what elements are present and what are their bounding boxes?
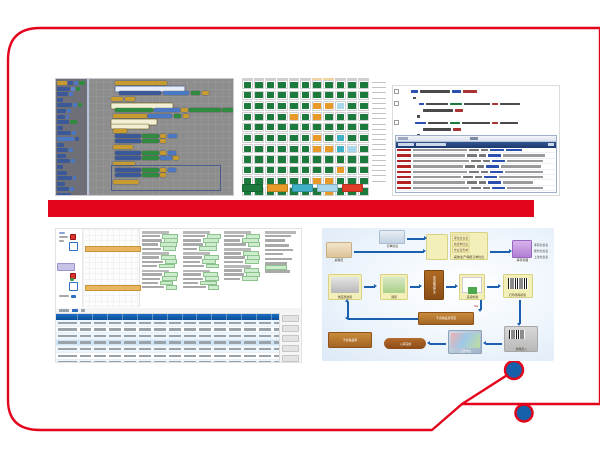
status-tile[interactable] bbox=[335, 155, 346, 164]
status-tile[interactable] bbox=[289, 155, 300, 164]
status-tile[interactable] bbox=[300, 144, 311, 153]
toolbox-item[interactable] bbox=[57, 137, 86, 141]
status-tile[interactable] bbox=[358, 80, 369, 89]
block-value[interactable] bbox=[160, 156, 172, 160]
block-group-label[interactable] bbox=[113, 129, 127, 133]
status-tile[interactable] bbox=[323, 123, 334, 132]
status-tile[interactable] bbox=[289, 91, 300, 100]
form-side-column[interactable] bbox=[265, 231, 299, 305]
block-workspace[interactable] bbox=[89, 79, 233, 195]
status-tile[interactable] bbox=[335, 80, 346, 89]
toolbox-item[interactable] bbox=[57, 193, 86, 195]
status-tile[interactable] bbox=[358, 123, 369, 132]
toolbox-item[interactable] bbox=[57, 165, 86, 169]
status-tile[interactable] bbox=[347, 166, 358, 175]
table-row[interactable] bbox=[56, 327, 301, 334]
code-editor[interactable] bbox=[393, 86, 559, 137]
log-tabbar[interactable] bbox=[396, 136, 556, 142]
status-tile[interactable] bbox=[265, 123, 276, 132]
code-line[interactable] bbox=[397, 102, 557, 107]
status-tile[interactable] bbox=[347, 144, 358, 153]
accent-circle-upper bbox=[505, 361, 523, 379]
status-tile[interactable] bbox=[254, 91, 265, 100]
block-control[interactable] bbox=[111, 97, 123, 101]
status-tile[interactable] bbox=[358, 112, 369, 121]
flow-node-label: 打印条码标签 bbox=[509, 293, 526, 297]
status-tile[interactable] bbox=[242, 166, 253, 175]
status-tile[interactable] bbox=[265, 101, 276, 110]
block-value[interactable] bbox=[189, 108, 221, 112]
form-column[interactable] bbox=[224, 231, 263, 305]
form-row[interactable] bbox=[142, 260, 181, 263]
legend-chip-idle[interactable] bbox=[317, 184, 338, 192]
status-tile[interactable] bbox=[347, 155, 358, 164]
status-tile[interactable] bbox=[312, 91, 323, 100]
block-control[interactable] bbox=[125, 97, 135, 101]
node-marker-red[interactable] bbox=[70, 234, 76, 240]
gantt-bar[interactable] bbox=[85, 285, 141, 291]
logistics-flow-diagram-screenshot[interactable]: 订单信息 采购员 采购/生产/销售订单信息 库位信息表 收货单信息 作业任务单 … bbox=[322, 228, 554, 361]
flow-arrow-head-icon bbox=[517, 323, 521, 326]
toolbox-item[interactable] bbox=[57, 176, 86, 180]
status-tile[interactable] bbox=[323, 144, 334, 153]
log-row-list[interactable] bbox=[396, 148, 556, 194]
status-tile[interactable] bbox=[358, 91, 369, 100]
form-row[interactable] bbox=[265, 270, 299, 273]
status-tile-grid-screenshot[interactable] bbox=[240, 78, 388, 196]
status-tile[interactable] bbox=[300, 101, 311, 110]
status-tile[interactable] bbox=[277, 91, 288, 100]
status-tile[interactable] bbox=[358, 155, 369, 164]
flow-node-label: 不合格品库 bbox=[343, 338, 357, 342]
flow-node-storage[interactable]: 库存管理 bbox=[512, 240, 532, 262]
toolbar-chip[interactable] bbox=[81, 309, 85, 312]
block-value[interactable] bbox=[154, 108, 180, 112]
status-tile[interactable] bbox=[242, 80, 253, 89]
table-header-cell[interactable] bbox=[168, 314, 183, 320]
toolbox-item[interactable] bbox=[57, 120, 86, 124]
form-field-columns[interactable] bbox=[140, 229, 301, 307]
form-row[interactable] bbox=[142, 277, 181, 280]
block-toolbox[interactable] bbox=[56, 79, 89, 195]
status-tile[interactable] bbox=[265, 144, 276, 153]
form-row[interactable] bbox=[183, 247, 222, 250]
block-group-label[interactable] bbox=[113, 145, 133, 149]
form-row[interactable] bbox=[224, 243, 263, 246]
block-value[interactable] bbox=[191, 91, 200, 95]
table-header-cell[interactable] bbox=[108, 314, 123, 320]
rail-swatch[interactable] bbox=[59, 236, 68, 238]
status-tile[interactable] bbox=[347, 101, 358, 110]
status-tile[interactable] bbox=[300, 155, 311, 164]
block-value[interactable] bbox=[142, 134, 159, 138]
status-tile[interactable] bbox=[242, 155, 253, 164]
form-group[interactable] bbox=[183, 231, 222, 250]
side-button[interactable] bbox=[282, 345, 299, 352]
flow-node-inspect[interactable]: 来货检验 bbox=[459, 274, 485, 300]
form-row[interactable] bbox=[265, 244, 299, 247]
form-row[interactable] bbox=[183, 264, 222, 267]
status-tile[interactable] bbox=[254, 80, 265, 89]
form-row[interactable] bbox=[265, 235, 299, 238]
status-tile[interactable] bbox=[335, 101, 346, 110]
flow-node-clerk[interactable]: 采购员 bbox=[326, 242, 352, 262]
status-tile[interactable] bbox=[312, 80, 323, 89]
code-line[interactable] bbox=[397, 120, 557, 125]
block-value[interactable] bbox=[163, 91, 189, 95]
block-value[interactable] bbox=[142, 156, 159, 160]
form-row[interactable] bbox=[265, 248, 299, 251]
form-row[interactable] bbox=[142, 286, 181, 289]
block-value[interactable] bbox=[168, 134, 177, 138]
status-tile[interactable] bbox=[265, 133, 276, 142]
form-row[interactable] bbox=[224, 260, 263, 263]
slide-canvas: 订单信息 采购员 采购/生产/销售订单信息 库位信息表 收货单信息 作业任务单 … bbox=[0, 0, 600, 450]
gantt-bar[interactable] bbox=[85, 246, 141, 252]
table-header-row[interactable] bbox=[56, 314, 301, 320]
status-tile[interactable] bbox=[265, 155, 276, 164]
status-tile[interactable] bbox=[265, 166, 276, 175]
status-tile[interactable] bbox=[323, 91, 334, 100]
toolbox-item[interactable] bbox=[57, 126, 86, 130]
node-marker-green[interactable] bbox=[70, 278, 74, 281]
data-table[interactable] bbox=[56, 308, 301, 362]
table-header-cell[interactable] bbox=[93, 314, 108, 320]
table-header-cell[interactable] bbox=[123, 314, 138, 320]
flow-node-reject-warehouse[interactable]: 不合格品库 bbox=[328, 332, 372, 348]
status-tile[interactable] bbox=[277, 101, 288, 110]
planning-board[interactable] bbox=[56, 229, 301, 307]
status-tile[interactable] bbox=[265, 91, 276, 100]
toolbox-item[interactable] bbox=[57, 154, 86, 158]
toolbox-item[interactable] bbox=[57, 143, 86, 147]
node-marker-lavender[interactable] bbox=[57, 263, 75, 271]
code-line[interactable] bbox=[397, 114, 557, 119]
legend-chip-ok[interactable] bbox=[242, 184, 263, 192]
board-rail[interactable] bbox=[56, 229, 83, 307]
status-tile[interactable] bbox=[323, 133, 334, 142]
flow-node-reject-zone[interactable]: 不合格品暂存区 bbox=[418, 312, 474, 325]
block-value[interactable] bbox=[142, 151, 159, 155]
code-editor-console-screenshot[interactable] bbox=[392, 85, 560, 196]
status-tile[interactable] bbox=[254, 166, 265, 175]
code-line[interactable] bbox=[397, 127, 557, 132]
table-row[interactable] bbox=[56, 346, 301, 353]
log-row[interactable] bbox=[397, 191, 555, 193]
status-tile[interactable] bbox=[312, 101, 323, 110]
status-tile[interactable] bbox=[289, 133, 300, 142]
block-value[interactable] bbox=[160, 151, 166, 155]
form-group[interactable] bbox=[224, 265, 263, 280]
table-row[interactable] bbox=[56, 320, 301, 327]
block-value[interactable] bbox=[160, 168, 166, 172]
status-tile[interactable] bbox=[358, 166, 369, 175]
status-tile[interactable] bbox=[312, 123, 323, 132]
status-tile[interactable] bbox=[242, 112, 253, 121]
code-fold-toggle[interactable] bbox=[394, 120, 399, 125]
status-tile[interactable] bbox=[335, 112, 346, 121]
flow-node-system[interactable] bbox=[426, 234, 448, 260]
status-tile[interactable] bbox=[300, 123, 311, 132]
form-row[interactable] bbox=[183, 260, 222, 263]
gantt-grid[interactable] bbox=[83, 229, 140, 307]
block-group-label[interactable] bbox=[113, 180, 139, 184]
table-header-cell[interactable] bbox=[183, 314, 198, 320]
form-row[interactable] bbox=[265, 258, 299, 261]
block-statement[interactable] bbox=[115, 139, 141, 143]
status-tile[interactable] bbox=[254, 133, 265, 142]
status-tile[interactable] bbox=[312, 144, 323, 153]
rail-swatch[interactable] bbox=[59, 295, 69, 297]
legend-chip-info[interactable] bbox=[292, 184, 313, 192]
side-button[interactable] bbox=[282, 325, 299, 332]
toolbox-item[interactable] bbox=[57, 103, 86, 107]
status-tile[interactable] bbox=[347, 80, 358, 89]
toolbox-item[interactable] bbox=[57, 115, 86, 119]
block-value[interactable] bbox=[142, 139, 159, 143]
flow-node-order[interactable]: 订单信息 bbox=[379, 230, 405, 248]
block-value[interactable] bbox=[160, 173, 166, 177]
status-tile[interactable] bbox=[277, 112, 288, 121]
status-tile[interactable] bbox=[289, 112, 300, 121]
status-tile[interactable] bbox=[323, 166, 334, 175]
toolbox-item[interactable] bbox=[57, 148, 86, 152]
status-tile[interactable] bbox=[335, 144, 346, 153]
status-tile[interactable] bbox=[358, 133, 369, 142]
flow-node-shelving[interactable]: 上架作业 bbox=[448, 330, 482, 354]
form-row[interactable] bbox=[265, 252, 299, 255]
form-row[interactable] bbox=[183, 277, 222, 280]
side-button[interactable] bbox=[282, 355, 299, 362]
status-tile[interactable] bbox=[335, 91, 346, 100]
tile-grid[interactable] bbox=[242, 80, 369, 196]
status-tile[interactable] bbox=[289, 80, 300, 89]
block-value[interactable] bbox=[168, 168, 176, 172]
block-value[interactable] bbox=[148, 114, 172, 118]
form-group[interactable] bbox=[183, 270, 222, 289]
status-tile[interactable] bbox=[312, 155, 323, 164]
visual-block-editor-screenshot[interactable] bbox=[55, 78, 234, 196]
form-group[interactable] bbox=[224, 248, 263, 263]
table-header-cell[interactable] bbox=[153, 314, 168, 320]
block-value[interactable] bbox=[160, 134, 166, 138]
block-value[interactable] bbox=[183, 114, 189, 118]
block-value[interactable] bbox=[168, 151, 176, 155]
code-line[interactable] bbox=[397, 108, 557, 113]
side-button[interactable] bbox=[282, 315, 299, 322]
toolbox-item[interactable] bbox=[57, 187, 86, 191]
flow-arrow bbox=[430, 343, 446, 345]
table-side-buttons[interactable] bbox=[279, 313, 301, 362]
block-statement[interactable] bbox=[115, 151, 141, 155]
block-statement[interactable] bbox=[115, 108, 153, 112]
table-header-cell[interactable] bbox=[242, 314, 257, 320]
form-row[interactable] bbox=[224, 277, 263, 280]
status-tile[interactable] bbox=[242, 101, 253, 110]
rail-swatch[interactable] bbox=[71, 295, 76, 298]
status-tile[interactable] bbox=[289, 166, 300, 175]
status-tile[interactable] bbox=[277, 133, 288, 142]
form-row[interactable] bbox=[265, 266, 299, 269]
status-tile[interactable] bbox=[254, 123, 265, 132]
node-marker-blue[interactable] bbox=[69, 242, 78, 251]
table-header-cell[interactable] bbox=[212, 314, 227, 320]
flow-node-label: 来货搬运作业 bbox=[432, 276, 436, 294]
toolbox-item[interactable] bbox=[57, 109, 86, 113]
toolbox-item[interactable] bbox=[57, 92, 86, 96]
table-header-cell[interactable] bbox=[56, 314, 78, 320]
form-group[interactable] bbox=[265, 258, 299, 274]
status-tile[interactable] bbox=[242, 91, 253, 100]
log-console[interactable] bbox=[395, 135, 557, 193]
table-header-cell[interactable] bbox=[78, 314, 93, 320]
block-value[interactable] bbox=[181, 108, 188, 112]
code-line[interactable] bbox=[397, 95, 557, 100]
planning-spreadsheet-screenshot[interactable] bbox=[55, 228, 302, 363]
flow-node-unload[interactable]: 卸货 bbox=[380, 274, 408, 300]
toolbox-item[interactable] bbox=[57, 87, 86, 91]
code-line[interactable] bbox=[397, 89, 557, 94]
block-statement[interactable] bbox=[115, 134, 141, 138]
status-tile[interactable] bbox=[347, 123, 358, 132]
flow-node-done[interactable]: 入库完成 bbox=[384, 338, 426, 349]
status-tile[interactable] bbox=[335, 133, 346, 142]
status-tile[interactable] bbox=[323, 80, 334, 89]
block-value[interactable] bbox=[222, 108, 233, 112]
legend-chip-warning[interactable] bbox=[267, 184, 288, 192]
status-tile[interactable] bbox=[323, 155, 334, 164]
status-tile[interactable] bbox=[300, 112, 311, 121]
status-tile[interactable] bbox=[312, 112, 323, 121]
form-row[interactable] bbox=[265, 239, 299, 242]
flow-node-label: 上架作业 bbox=[459, 349, 470, 353]
status-tile[interactable] bbox=[335, 123, 346, 132]
code-fold-toggle[interactable] bbox=[394, 89, 399, 94]
status-tile[interactable] bbox=[289, 144, 300, 153]
table-header-cell[interactable] bbox=[257, 314, 272, 320]
table-row-selected[interactable] bbox=[56, 340, 301, 347]
status-tile[interactable] bbox=[265, 80, 276, 89]
side-button[interactable] bbox=[282, 335, 299, 342]
table-row[interactable] bbox=[56, 353, 301, 360]
table-row[interactable] bbox=[56, 360, 301, 363]
block-value[interactable] bbox=[142, 168, 159, 172]
status-tile[interactable] bbox=[254, 101, 265, 110]
block-statement[interactable] bbox=[119, 91, 161, 95]
status-tile[interactable] bbox=[277, 155, 288, 164]
node-marker-blue[interactable] bbox=[69, 282, 78, 291]
legend-chip-error[interactable] bbox=[342, 184, 363, 192]
toolbar-chip[interactable] bbox=[72, 309, 78, 312]
status-tile[interactable] bbox=[323, 101, 334, 110]
toolbox-item[interactable] bbox=[57, 171, 86, 175]
status-tile[interactable] bbox=[277, 144, 288, 153]
barcode-icon bbox=[509, 330, 525, 339]
table-row[interactable] bbox=[56, 333, 301, 340]
form-group[interactable] bbox=[265, 244, 299, 256]
status-tile[interactable] bbox=[312, 133, 323, 142]
status-tile[interactable] bbox=[300, 133, 311, 142]
status-tile[interactable] bbox=[289, 123, 300, 132]
status-tile[interactable] bbox=[358, 144, 369, 153]
form-row[interactable] bbox=[142, 264, 181, 267]
status-tile[interactable] bbox=[289, 101, 300, 110]
status-tile[interactable] bbox=[265, 112, 276, 121]
status-tile[interactable] bbox=[335, 166, 346, 175]
rail-swatch[interactable] bbox=[59, 232, 65, 234]
status-tile[interactable] bbox=[347, 91, 358, 100]
block-value[interactable] bbox=[202, 91, 209, 95]
flow-node-scan[interactable]: 条码扫入 bbox=[504, 326, 538, 352]
status-tile[interactable] bbox=[254, 144, 265, 153]
status-tile[interactable] bbox=[300, 80, 311, 89]
toolbox-item[interactable] bbox=[57, 81, 86, 85]
status-tile[interactable] bbox=[277, 166, 288, 175]
block-value[interactable] bbox=[142, 173, 159, 177]
flow-node-label: 卸货 bbox=[391, 295, 397, 299]
form-group[interactable] bbox=[142, 252, 181, 267]
toolbox-item[interactable] bbox=[57, 182, 86, 186]
flow-node-label-print[interactable]: 打印条码标签 bbox=[503, 274, 533, 298]
toolbox-item[interactable] bbox=[57, 131, 86, 135]
block-statement[interactable] bbox=[113, 114, 147, 118]
code-fold-toggle[interactable] bbox=[394, 101, 399, 106]
block-value[interactable] bbox=[160, 139, 166, 143]
status-tile[interactable] bbox=[323, 112, 334, 121]
block-value[interactable] bbox=[174, 114, 181, 118]
table-header-cell[interactable] bbox=[227, 314, 242, 320]
status-tile[interactable] bbox=[242, 144, 253, 153]
block-statement[interactable] bbox=[115, 173, 141, 177]
status-tile[interactable] bbox=[254, 112, 265, 121]
form-group[interactable] bbox=[265, 231, 299, 242]
flow-node-label: 不合格品暂存区 bbox=[436, 316, 456, 320]
form-group[interactable] bbox=[142, 231, 181, 250]
form-column[interactable] bbox=[183, 231, 222, 305]
form-group[interactable] bbox=[142, 270, 181, 289]
block-statement[interactable] bbox=[115, 156, 141, 160]
table-header-cell[interactable] bbox=[197, 314, 212, 320]
toolbox-item[interactable] bbox=[57, 98, 86, 102]
toolbar-chip[interactable] bbox=[59, 309, 69, 312]
form-row[interactable] bbox=[142, 247, 181, 250]
status-tile[interactable] bbox=[242, 133, 253, 142]
form-column[interactable] bbox=[142, 231, 181, 305]
form-group[interactable] bbox=[224, 231, 263, 246]
flow-node-delivery[interactable]: 供应商送货 bbox=[328, 274, 362, 300]
block-value[interactable] bbox=[173, 156, 179, 160]
status-tile[interactable] bbox=[347, 112, 358, 121]
status-tile[interactable] bbox=[358, 101, 369, 110]
status-tile[interactable] bbox=[300, 91, 311, 100]
status-tile[interactable] bbox=[242, 123, 253, 132]
form-row[interactable] bbox=[183, 286, 222, 289]
table-header-cell[interactable] bbox=[138, 314, 153, 320]
block-statement[interactable] bbox=[115, 168, 141, 172]
form-group[interactable] bbox=[183, 252, 222, 267]
status-tile[interactable] bbox=[347, 133, 358, 142]
rail-swatch[interactable] bbox=[59, 240, 64, 242]
status-tile[interactable] bbox=[277, 123, 288, 132]
flow-arrow bbox=[486, 343, 502, 345]
status-tile[interactable] bbox=[254, 155, 265, 164]
status-tile[interactable] bbox=[300, 166, 311, 175]
status-tile[interactable] bbox=[277, 80, 288, 89]
flow-node-carton[interactable]: 来货搬运作业 bbox=[424, 270, 444, 300]
status-tile[interactable] bbox=[312, 166, 323, 175]
block-event[interactable] bbox=[115, 81, 167, 85]
toolbox-item[interactable] bbox=[57, 159, 86, 163]
